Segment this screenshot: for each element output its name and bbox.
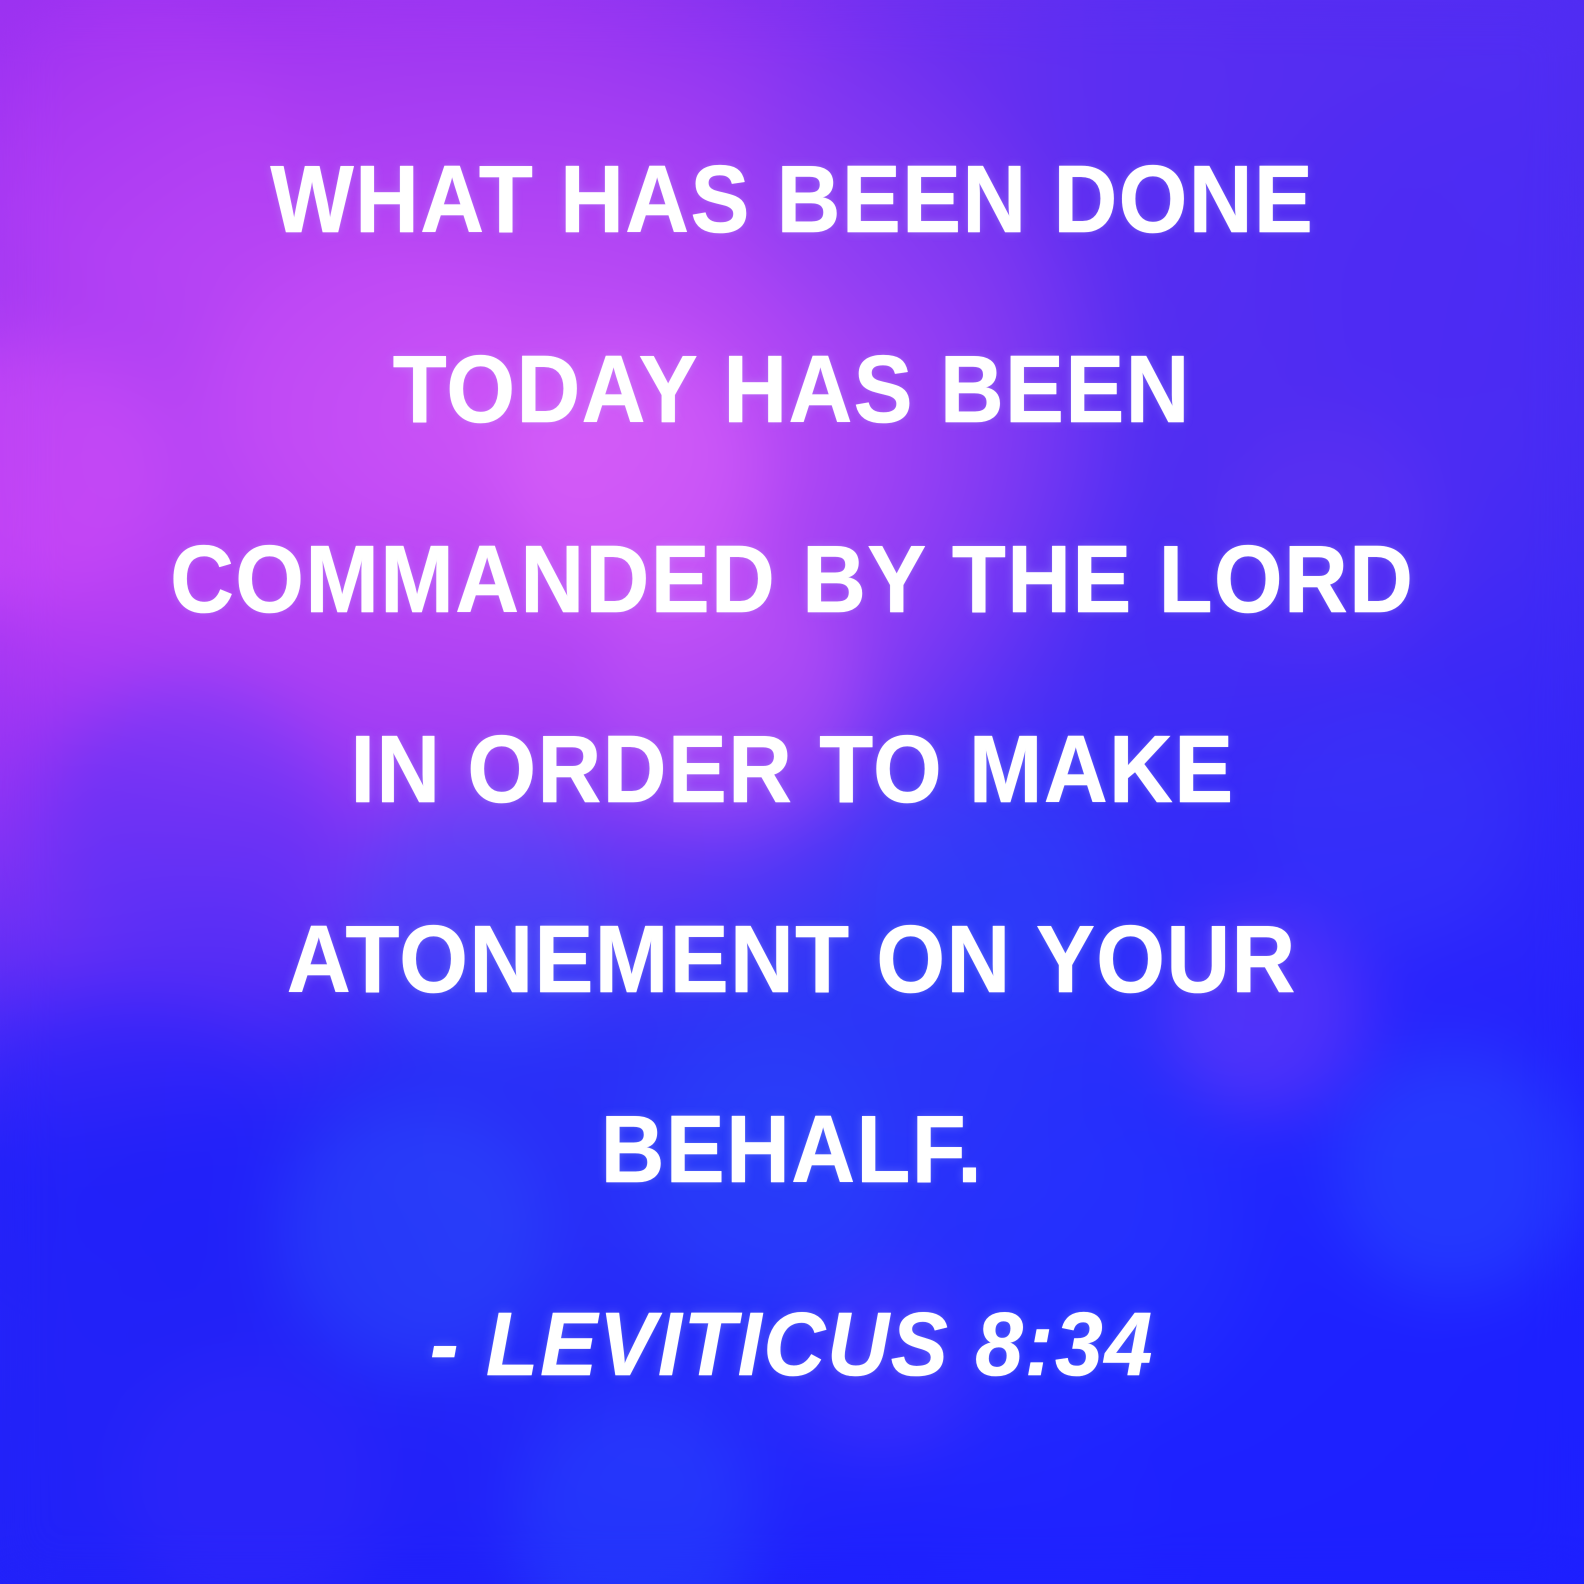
- verse-line: behalf.: [601, 1102, 984, 1198]
- verse-line: commanded by the LORD: [170, 532, 1414, 628]
- verse-line: atonement on your: [287, 912, 1297, 1008]
- verse-attribution: - Leviticus 8:34: [40, 1300, 1545, 1390]
- verse-line: today has been: [393, 342, 1191, 438]
- verse-line: What has been done: [270, 152, 1314, 248]
- verse-line: in order to make: [350, 722, 1234, 818]
- verse-image-canvas: What has been done today has been comman…: [0, 0, 1584, 1584]
